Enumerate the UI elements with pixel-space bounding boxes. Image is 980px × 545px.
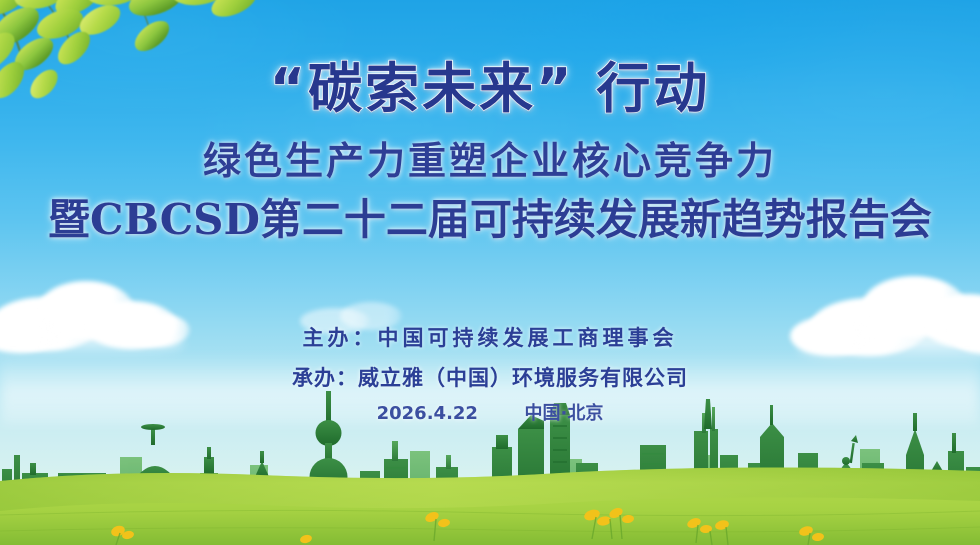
event-date: 2026.4.22	[377, 403, 478, 424]
host-organization: 主办：中国可持续发展工商理事会	[0, 322, 980, 352]
subtitle-theme: 绿色生产力重塑企业核心竞争力	[0, 130, 980, 185]
event-location: 中国·北京	[525, 403, 604, 424]
subtitle-conference-name: 暨CBCSD第二十二届可持续发展新趋势报告会	[0, 186, 980, 247]
banner-text-layer: “碳索未来” 行动 绿色生产力重塑企业核心竞争力 暨CBCSD第二十二届可持续发…	[0, 0, 980, 545]
conference-banner: “碳索未来” 行动 绿色生产力重塑企业核心竞争力 暨CBCSD第二十二届可持续发…	[0, 0, 980, 545]
co-organizer-organization: 承办：威立雅（中国）环境服务有限公司	[0, 362, 980, 392]
event-date-location: 2026.4.22 中国·北京	[0, 399, 980, 425]
page-title: “碳索未来” 行动	[0, 44, 980, 123]
